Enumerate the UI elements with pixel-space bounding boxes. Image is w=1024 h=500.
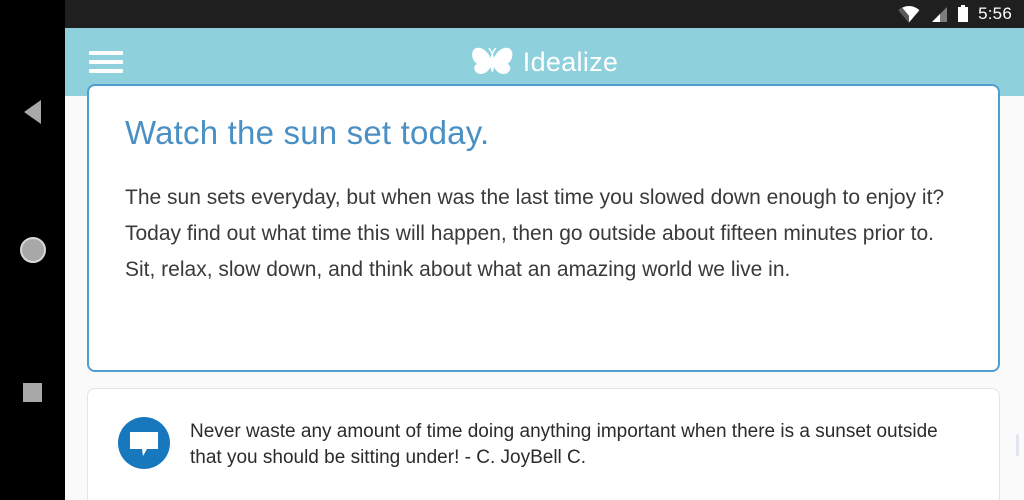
quote-text: Never waste any amount of time doing any… (190, 415, 969, 471)
home-circle-icon (20, 237, 46, 263)
cellular-signal-icon (929, 6, 948, 23)
android-navigation-bar (0, 0, 65, 500)
status-bar-clock: 5:56 (978, 4, 1012, 24)
task-body-text: The sun sets everyday, but when was the … (125, 180, 962, 288)
recents-square-icon (23, 383, 42, 402)
speech-bubble-icon (118, 417, 170, 469)
hamburger-menu-icon[interactable] (89, 51, 123, 73)
task-heading: Watch the sun set today. (125, 114, 962, 152)
scroll-content[interactable]: Watch the sun set today. The sun sets ev… (65, 96, 1024, 500)
quote-card[interactable]: Never waste any amount of time doing any… (87, 388, 1000, 500)
status-bar: 5:56 (65, 0, 1024, 28)
task-card[interactable]: Watch the sun set today. The sun sets ev… (87, 84, 1000, 372)
home-button[interactable] (0, 230, 65, 270)
recent-apps-button[interactable] (0, 372, 65, 412)
app-title: Idealize (523, 47, 618, 78)
app-viewport: 5:56 Idealize Watch the sun set to (65, 0, 1024, 500)
back-triangle-icon (24, 100, 41, 124)
vertical-scrollbar[interactable] (1016, 434, 1019, 456)
battery-icon (957, 5, 969, 23)
back-button[interactable] (0, 92, 65, 132)
butterfly-logo (471, 46, 513, 78)
phone-screenshot: 5:56 Idealize Watch the sun set to (0, 0, 1024, 500)
app-brand: Idealize (471, 46, 618, 78)
wifi-icon (898, 6, 920, 23)
